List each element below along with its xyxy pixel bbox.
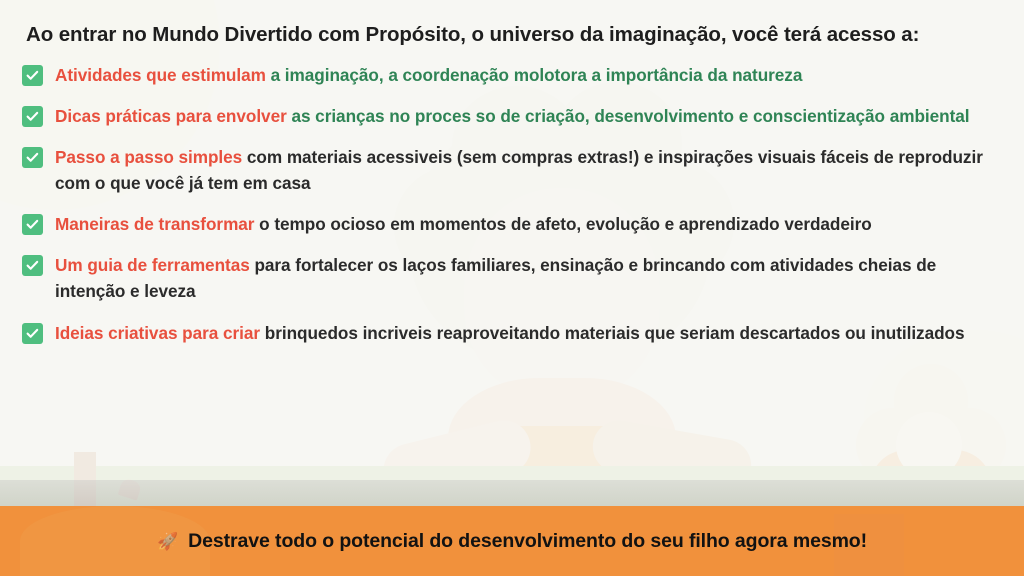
list-item-text: Ideias criativas para criar brinquedos i…	[55, 320, 965, 346]
list-item-lead: Passo a passo simples	[55, 147, 242, 167]
cta-banner-text: Destrave todo o potencial do desenvolvim…	[188, 530, 867, 553]
list-item-lead: Maneiras de transformar	[55, 214, 254, 234]
checkbox-checked-icon	[22, 106, 43, 127]
rocket-icon: 🚀	[157, 533, 178, 550]
list-item-rest: brinquedos incriveis reaproveitando mate…	[260, 323, 964, 343]
list-item-lead: Dicas práticas para envolver	[55, 106, 287, 126]
list-item: Dicas práticas para envolver as crianças…	[22, 103, 996, 129]
card-bottom-shadow	[0, 480, 1024, 506]
checkbox-checked-icon	[22, 323, 43, 344]
list-item-text: Passo a passo simples com materiais aces…	[55, 144, 996, 196]
checkbox-checked-icon	[22, 214, 43, 235]
slide-root: Ao entrar no Mundo Divertido com Propósi…	[0, 0, 1024, 576]
list-item-text: Um guia de ferramentas para fortalecer o…	[55, 252, 996, 304]
list-item-lead: Ideias criativas para criar	[55, 323, 260, 343]
list-item-lead: Atividades que estimulam	[55, 65, 266, 85]
checkbox-checked-icon	[22, 255, 43, 276]
list-item: Um guia de ferramentas para fortalecer o…	[22, 252, 996, 304]
list-item: Atividades que estimulam a imaginação, a…	[22, 62, 996, 88]
list-item-rest: as crianças no proces so de criação, des…	[287, 106, 970, 126]
list-item-text: Maneiras de transformar o tempo ocioso e…	[55, 211, 872, 237]
list-item: Maneiras de transformar o tempo ocioso e…	[22, 211, 996, 237]
list-item-lead: Um guia de ferramentas	[55, 255, 250, 275]
content-card: Ao entrar no Mundo Divertido com Propósi…	[0, 0, 1024, 480]
banner-decoration-left	[20, 506, 210, 576]
list-item-text: Dicas práticas para envolver as crianças…	[55, 103, 970, 129]
list-item: Passo a passo simples com materiais aces…	[22, 144, 996, 196]
list-item: Ideias criativas para criar brinquedos i…	[22, 320, 996, 346]
page-title: Ao entrar no Mundo Divertido com Propósi…	[26, 22, 996, 48]
checkbox-checked-icon	[22, 65, 43, 86]
list-item-rest: o tempo ocioso em momentos de afeto, evo…	[254, 214, 871, 234]
checkbox-checked-icon	[22, 147, 43, 168]
benefits-checklist: Atividades que estimulam a imaginação, a…	[22, 62, 996, 346]
cta-banner: 🚀 Destrave todo o potencial do desenvolv…	[0, 506, 1024, 576]
list-item-rest: a imaginação, a coordenação molotora a i…	[266, 65, 803, 85]
list-item-text: Atividades que estimulam a imaginação, a…	[55, 62, 802, 88]
